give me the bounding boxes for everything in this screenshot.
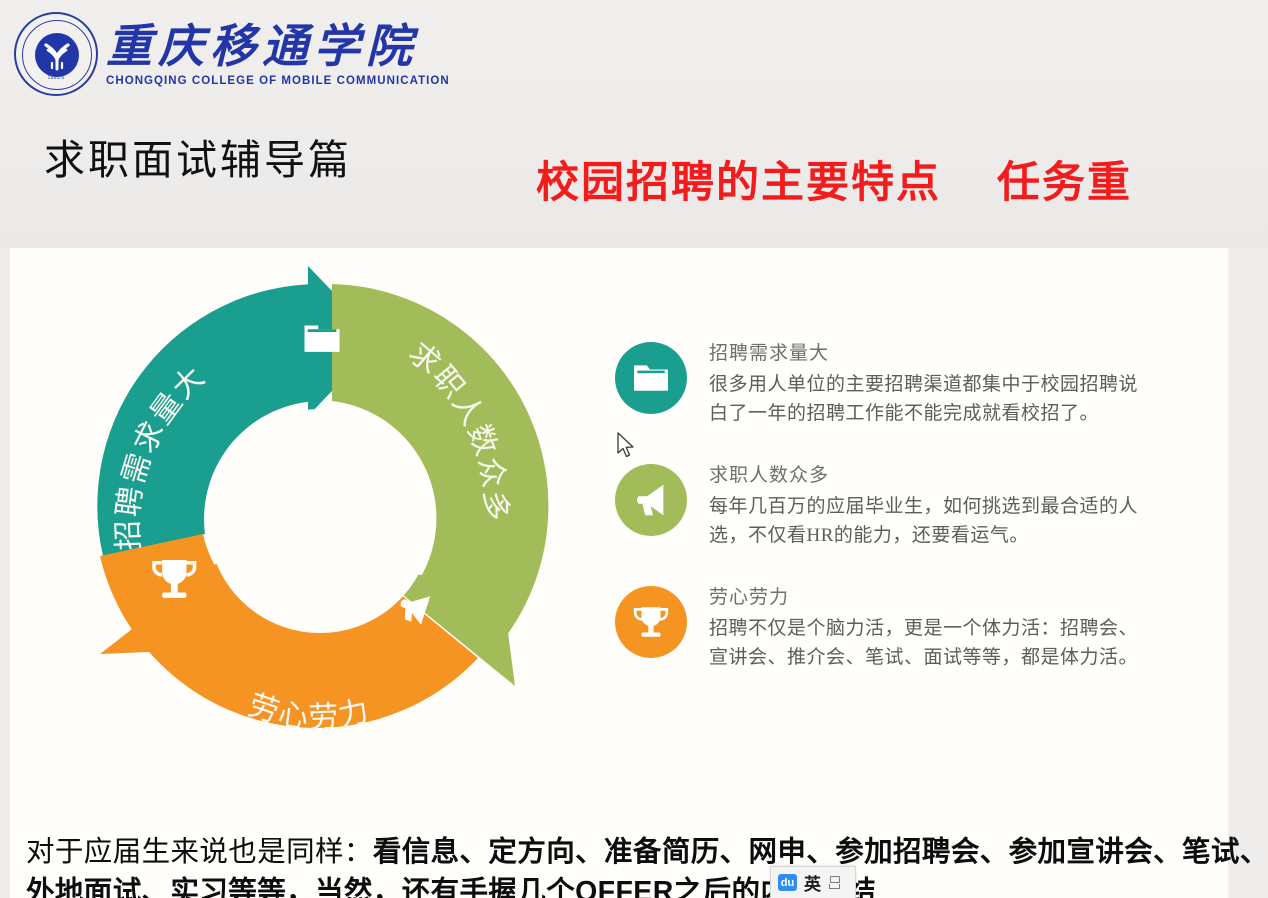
trophy-icon-glyph bbox=[632, 603, 670, 641]
caption-line-1: 对于应届生来说也是同样：看信息、定方向、准备简历、网申、参加招聘会、参加宣讲会、… bbox=[26, 832, 1220, 872]
cycle-diagram: 招聘需求量大 求职人数众多 劳心劳力 bbox=[70, 256, 570, 756]
bullet-title: 招聘需求量大 bbox=[709, 338, 1157, 365]
ime-mode-toggle[interactable]: 英 bbox=[804, 870, 821, 895]
caption-lead: 对于应届生来说也是同样： bbox=[26, 836, 373, 868]
seal-core-icon bbox=[34, 32, 80, 78]
slide-header: 1983.6 重庆移通学院 CHONGQING COLLEGE OF MOBIL… bbox=[0, 0, 1268, 248]
bullet-text: 招聘需求量大 很多用人单位的主要招聘渠道都集中于校园招聘说白了一年的招聘工作能不… bbox=[709, 336, 1157, 429]
folder-icon bbox=[615, 342, 687, 414]
folder-icon-glyph bbox=[632, 359, 670, 397]
bullet-list: 招聘需求量大 很多用人单位的主要招聘渠道都集中于校园招聘说白了一年的招聘工作能不… bbox=[615, 336, 1175, 702]
cycle-diagram-center bbox=[208, 409, 432, 633]
institution-logo: 1983.6 重庆移通学院 CHONGQING COLLEGE OF MOBIL… bbox=[14, 12, 450, 96]
ime-toolbar[interactable]: du 英 bbox=[770, 866, 856, 898]
ime-vendor-icon[interactable]: du bbox=[778, 874, 797, 891]
trophy-icon bbox=[615, 586, 687, 658]
bullet-text: 劳心劳力 招聘不仅是个脑力活，更是一个体力活：招聘会、宣讲会、推介会、笔试、面试… bbox=[709, 580, 1157, 673]
bullet-body: 很多用人单位的主要招聘渠道都集中于校园招聘说白了一年的招聘工作能不能完成就看校招… bbox=[709, 370, 1157, 429]
keyboard-icon[interactable] bbox=[828, 876, 841, 889]
slide-caption: 对于应届生来说也是同样：看信息、定方向、准备简历、网申、参加招聘会、参加宣讲会、… bbox=[10, 826, 1228, 898]
caption-line-2: 外地面试、实习等等，当然，还有手握几个OFFER之后的内心纠结 bbox=[26, 872, 1220, 898]
bullet-title: 劳心劳力 bbox=[709, 582, 1157, 609]
seal-emblem-icon: 1983.6 bbox=[14, 12, 98, 96]
bullet-body: 每年几百万的应届毕业生，如何挑选到最合适的人选，不仅看HR的能力，还要看运气。 bbox=[709, 492, 1157, 551]
bullet-body: 招聘不仅是个脑力活，更是一个体力活：招聘会、宣讲会、推介会、笔试、面试等等，都是… bbox=[709, 614, 1157, 673]
logo-wordmark: 重庆移通学院 CHONGQING COLLEGE OF MOBILE COMMU… bbox=[106, 21, 450, 87]
folder-icon bbox=[305, 326, 340, 352]
section-title: 求职面试辅导篇 bbox=[44, 126, 352, 186]
bullet-item: 求职人数众多 每年几百万的应届毕业生，如何挑选到最合适的人选，不仅看HR的能力，… bbox=[615, 458, 1175, 554]
bullet-text: 求职人数众多 每年几百万的应届毕业生，如何挑选到最合适的人选，不仅看HR的能力，… bbox=[709, 458, 1157, 551]
slide-body: 招聘需求量大 求职人数众多 劳心劳力 bbox=[10, 248, 1228, 898]
bullet-item: 劳心劳力 招聘不仅是个脑力活，更是一个体力活：招聘会、宣讲会、推介会、笔试、面试… bbox=[615, 580, 1175, 676]
bullet-item: 招聘需求量大 很多用人单位的主要招聘渠道都集中于校园招聘说白了一年的招聘工作能不… bbox=[615, 336, 1175, 432]
logo-name-en: CHONGQING COLLEGE OF MOBILE COMMUNICATIO… bbox=[106, 75, 450, 87]
seal-year: 1983.6 bbox=[16, 75, 96, 81]
slide-title-group: 校园招聘的主要特点 任务重 bbox=[536, 148, 1132, 210]
megaphone-icon-glyph bbox=[632, 481, 670, 519]
caption-emphasis: 看信息、定方向、准备简历、网申、参加招聘会、参加宣讲会、笔试、面试、甚至去 bbox=[373, 836, 1268, 868]
screen-share-view: 1983.6 重庆移通学院 CHONGQING COLLEGE OF MOBIL… bbox=[0, 0, 1268, 898]
megaphone-icon bbox=[615, 464, 687, 536]
cycle-diagram-svg: 招聘需求量大 求职人数众多 劳心劳力 bbox=[70, 256, 570, 756]
logo-name-cn: 重庆移通学院 bbox=[106, 21, 450, 74]
slide-title: 校园招聘的主要特点 bbox=[536, 148, 941, 210]
slide-subtitle: 任务重 bbox=[997, 148, 1132, 210]
bullet-title: 求职人数众多 bbox=[709, 460, 1157, 487]
